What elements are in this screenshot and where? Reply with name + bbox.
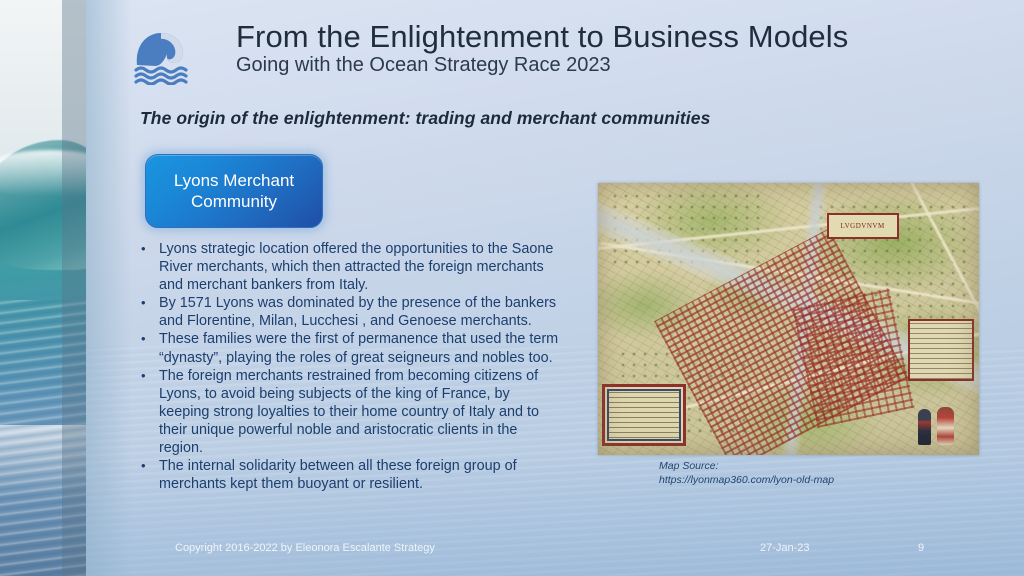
title-block: From the Enlightenment to Business Model…: [236, 20, 956, 76]
list-item-text: By 1571 Lyons was dominated by the prese…: [159, 294, 562, 330]
ocean-wave-icon: [131, 25, 207, 85]
list-item-text: The internal solidarity between all thes…: [159, 457, 562, 493]
map-figure-man: [918, 409, 931, 445]
map-source-caption: Map Source: https://lyonmap360.com/lyon-…: [659, 459, 834, 487]
bullet-marker-icon: •: [137, 330, 159, 348]
bullet-list: • Lyons strategic location offered the o…: [137, 240, 562, 493]
section-heading: The origin of the enlightenment: trading…: [140, 108, 710, 129]
list-item-text: Lyons strategic location offered the opp…: [159, 240, 562, 294]
callout-label: Lyons Merchant Community: [174, 170, 294, 213]
bullet-marker-icon: •: [137, 367, 159, 385]
wave-overlay-band: [62, 0, 86, 576]
list-item: • The foreign merchants restrained from …: [137, 367, 562, 457]
map-title-cartouche: LVGDVNVM: [827, 213, 899, 239]
page-subtitle: Going with the Ocean Strategy Race 2023: [236, 54, 956, 76]
footer-copyright: Copyright 2016-2022 by Eleonora Escalant…: [175, 542, 435, 554]
list-item: • The internal solidarity between all th…: [137, 457, 562, 493]
map-figure-woman: [937, 407, 954, 445]
lyons-merchant-community-callout[interactable]: Lyons Merchant Community: [145, 154, 323, 228]
list-item: • Lyons strategic location offered the o…: [137, 240, 562, 294]
page-title: From the Enlightenment to Business Model…: [236, 20, 956, 53]
map-canvas: LVGDVNVM: [598, 183, 979, 455]
list-item-text: These families were the first of permane…: [159, 330, 562, 366]
wave-edge-fade: [86, 0, 132, 576]
list-item: • By 1571 Lyons was dominated by the pre…: [137, 294, 562, 330]
bullet-marker-icon: •: [137, 294, 159, 312]
footer-page-number: 9: [918, 542, 924, 554]
map-legend-cartouche: [602, 384, 686, 446]
presentation-slide: From the Enlightenment to Business Model…: [0, 0, 1024, 576]
list-item-text: The foreign merchants restrained from be…: [159, 367, 562, 457]
list-item: • These families were the first of perma…: [137, 330, 562, 366]
ocean-wave-photo-strip: [0, 0, 86, 576]
bullet-marker-icon: •: [137, 240, 159, 258]
bullet-marker-icon: •: [137, 457, 159, 475]
map-text-panel: [908, 319, 974, 381]
footer-date: 27-Jan-23: [760, 542, 810, 554]
antique-map-of-lyon[interactable]: LVGDVNVM: [598, 183, 979, 455]
